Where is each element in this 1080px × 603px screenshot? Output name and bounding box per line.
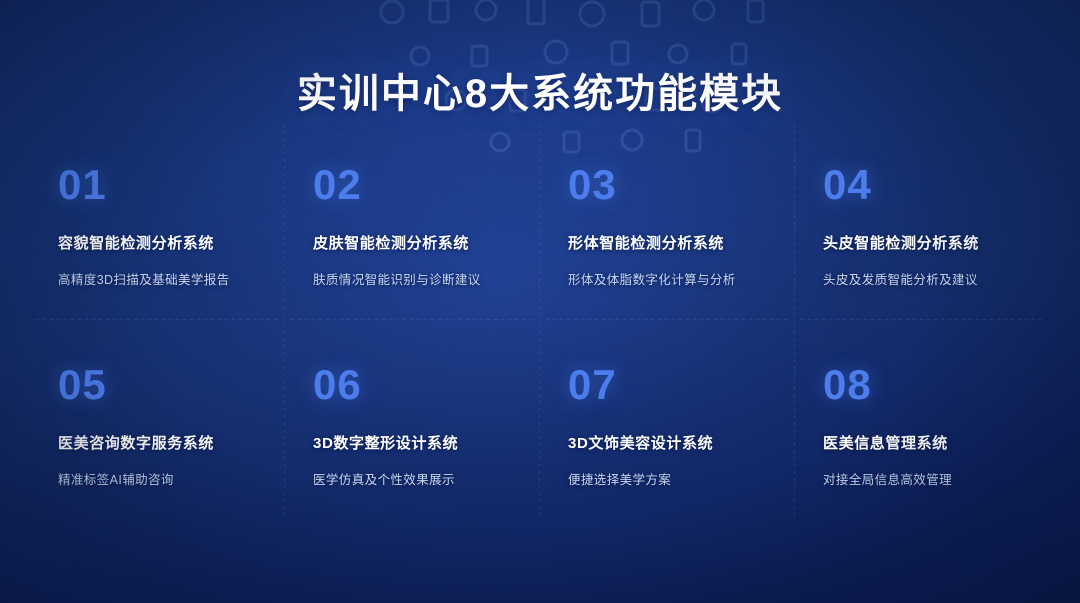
module-card-02[interactable]: 02 皮肤智能检测分析系统 肤质情况智能识别与诊断建议 (285, 120, 540, 320)
module-number: 01 (58, 164, 259, 206)
module-description: 高精度3D扫描及基础美学报告 (58, 269, 259, 288)
module-description: 精准标签AI辅助咨询 (58, 469, 259, 488)
module-title: 形体智能检测分析系统 (568, 232, 769, 253)
module-card-07[interactable]: 07 3D文饰美容设计系统 便捷选择美学方案 (540, 320, 795, 520)
module-title: 3D文饰美容设计系统 (568, 432, 769, 453)
module-grid: 01 容貌智能检测分析系统 高精度3D扫描及基础美学报告 02 皮肤智能检测分析… (30, 120, 1050, 520)
module-card-03[interactable]: 03 形体智能检测分析系统 形体及体脂数字化计算与分析 (540, 120, 795, 320)
module-card-05[interactable]: 05 医美咨询数字服务系统 精准标签AI辅助咨询 (30, 320, 285, 520)
module-description: 形体及体脂数字化计算与分析 (568, 269, 769, 288)
module-description: 肤质情况智能识别与诊断建议 (313, 269, 514, 288)
page-title: 实训中心8大系统功能模块 (297, 61, 783, 119)
module-card-08[interactable]: 08 医美信息管理系统 对接全局信息高效管理 (795, 320, 1050, 520)
module-description: 头皮及发质智能分析及建议 (823, 269, 1024, 288)
module-title: 3D数字整形设计系统 (313, 432, 514, 453)
module-card-01[interactable]: 01 容貌智能检测分析系统 高精度3D扫描及基础美学报告 (30, 120, 285, 320)
module-number: 07 (568, 364, 769, 406)
module-card-06[interactable]: 06 3D数字整形设计系统 医学仿真及个性效果展示 (285, 320, 540, 520)
module-title: 医美咨询数字服务系统 (58, 432, 259, 453)
module-number: 08 (823, 364, 1024, 406)
module-title: 皮肤智能检测分析系统 (313, 232, 514, 253)
slide-root: 实训中心8大系统功能模块 01 容貌智能检测分析系统 高精度3D扫描及基础美学报… (0, 0, 1080, 603)
module-title: 头皮智能检测分析系统 (823, 232, 1024, 253)
module-number: 04 (823, 164, 1024, 206)
module-number: 02 (313, 164, 514, 206)
module-card-04[interactable]: 04 头皮智能检测分析系统 头皮及发质智能分析及建议 (795, 120, 1050, 320)
module-description: 便捷选择美学方案 (568, 469, 769, 488)
module-description: 对接全局信息高效管理 (823, 469, 1024, 488)
module-number: 05 (58, 364, 259, 406)
module-number: 06 (313, 364, 514, 406)
module-number: 03 (568, 164, 769, 206)
module-title: 医美信息管理系统 (823, 432, 1024, 453)
module-title: 容貌智能检测分析系统 (58, 232, 259, 253)
module-description: 医学仿真及个性效果展示 (313, 469, 514, 488)
